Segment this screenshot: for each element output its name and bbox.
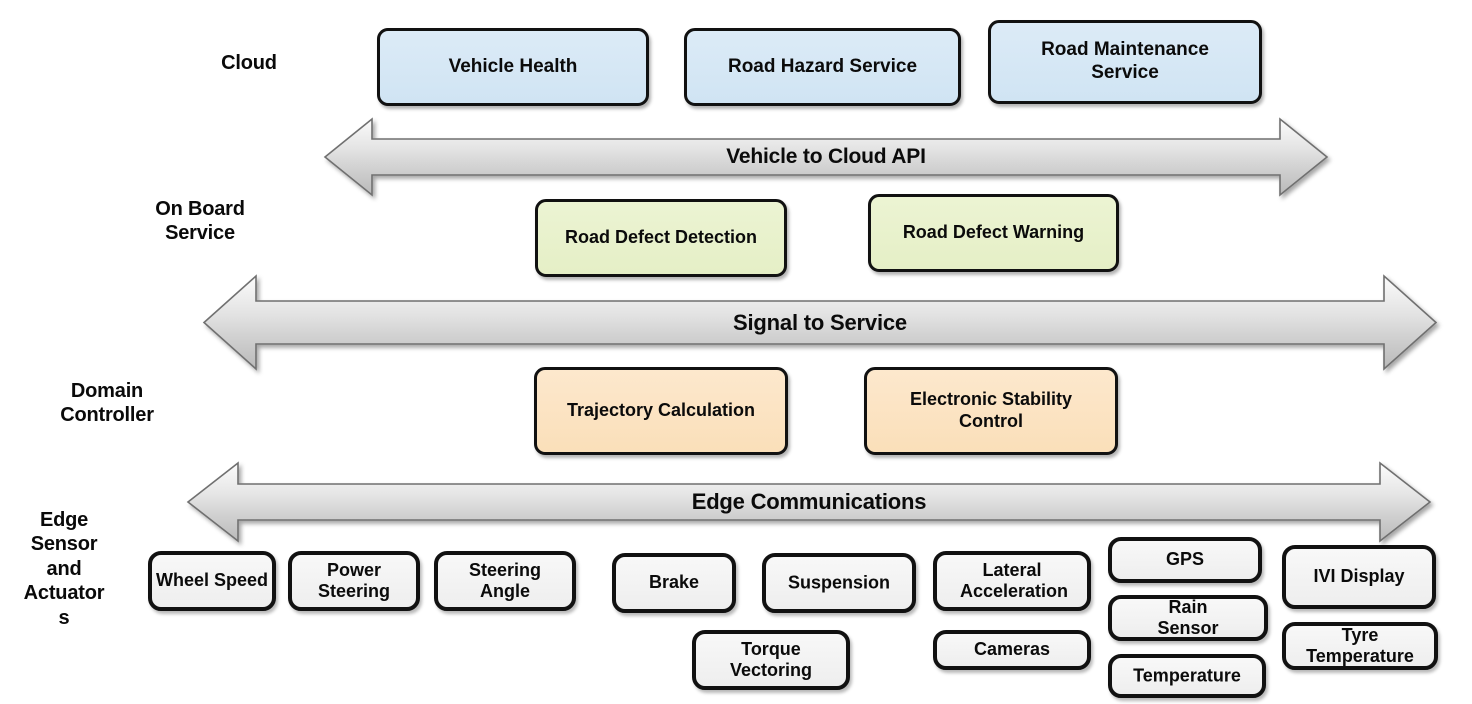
sensor-wheel-speed[interactable]: Wheel Speed <box>148 551 276 611</box>
layer-label-edge-line5: s <box>59 607 70 629</box>
sensor-temperature-label: Temperature <box>1113 665 1261 686</box>
layer-label-cloud: Cloud <box>168 52 330 76</box>
layer-label-edge-line4: Actuator <box>24 582 105 604</box>
domain-function-electronic-stability-control-label: Electronic Stability Control <box>881 389 1101 432</box>
interface-arrow-signal-to-service: Signal to Service <box>204 276 1436 369</box>
sensor-rain-sensor[interactable]: Rain Sensor <box>1108 595 1268 641</box>
architecture-diagram: Cloud On Board Service Domain Controller… <box>0 0 1472 704</box>
sensor-wheel-speed-label: Wheel Speed <box>152 570 272 592</box>
layer-label-domain-line1: Domain <box>71 380 143 402</box>
interface-arrow-vehicle-to-cloud: Vehicle to Cloud API <box>325 119 1327 195</box>
sensor-brake[interactable]: Brake <box>612 553 736 613</box>
sensor-torque-vectoring-label: Torque Vectoring <box>702 639 840 681</box>
sensor-lateral-acceleration-label: Lateral Acceleration <box>960 560 1064 602</box>
sensor-power-steering-label: Power Steering <box>316 560 392 602</box>
interface-arrow-edge-communications: Edge Communications <box>188 463 1430 541</box>
layer-label-domain: Domain Controller <box>22 380 192 427</box>
sensor-tyre-temperature[interactable]: Tyre Temperature <box>1282 622 1438 670</box>
cloud-service-vehicle-health-label: Vehicle Health <box>380 56 646 79</box>
layer-label-edge: Edge Sensor and Actuator s <box>8 508 120 630</box>
cloud-service-vehicle-health[interactable]: Vehicle Health <box>377 28 649 106</box>
sensor-rain-sensor-label: Rain Sensor <box>1151 597 1225 639</box>
layer-label-onboard: On Board Service <box>118 198 282 245</box>
double-arrow-shape <box>325 119 1327 195</box>
sensor-lateral-acceleration[interactable]: Lateral Acceleration <box>933 551 1091 611</box>
domain-function-trajectory-calculation-label: Trajectory Calculation <box>561 400 761 422</box>
onboard-service-road-defect-warning[interactable]: Road Defect Warning <box>868 194 1119 272</box>
sensor-steering-angle-label: Steering Angle <box>463 560 547 602</box>
sensor-suspension[interactable]: Suspension <box>762 553 916 613</box>
sensor-torque-vectoring[interactable]: Torque Vectoring <box>692 630 850 690</box>
sensor-ivi-display-label: IVI Display <box>1286 566 1432 587</box>
domain-function-electronic-stability-control[interactable]: Electronic Stability Control <box>864 367 1118 455</box>
cloud-service-road-hazard-label: Road Hazard Service <box>687 56 958 79</box>
double-arrow-shape <box>188 463 1430 541</box>
cloud-service-road-maintenance[interactable]: Road Maintenance Service <box>988 20 1262 104</box>
sensor-steering-angle[interactable]: Steering Angle <box>434 551 576 611</box>
layer-label-domain-line2: Controller <box>60 404 154 426</box>
onboard-service-road-defect-detection-label: Road Defect Detection <box>560 227 762 249</box>
domain-function-trajectory-calculation[interactable]: Trajectory Calculation <box>534 367 788 455</box>
layer-label-onboard-line1: On Board <box>155 198 245 220</box>
layer-label-edge-line3: and <box>47 558 82 580</box>
sensor-temperature[interactable]: Temperature <box>1108 654 1266 698</box>
layer-label-edge-line1: Edge <box>40 509 88 531</box>
double-arrow-shape <box>204 276 1436 369</box>
onboard-service-road-defect-detection[interactable]: Road Defect Detection <box>535 199 787 277</box>
layer-label-edge-line2: Sensor <box>31 533 98 555</box>
sensor-ivi-display[interactable]: IVI Display <box>1282 545 1436 609</box>
cloud-service-road-maintenance-label: Road Maintenance Service <box>1009 39 1241 85</box>
sensor-cameras-label: Cameras <box>937 639 1087 661</box>
layer-label-cloud-text: Cloud <box>221 52 277 74</box>
onboard-service-road-defect-warning-label: Road Defect Warning <box>895 222 1092 244</box>
sensor-gps[interactable]: GPS <box>1108 537 1262 583</box>
sensor-cameras[interactable]: Cameras <box>933 630 1091 670</box>
layer-label-onboard-line2: Service <box>165 222 235 244</box>
sensor-brake-label: Brake <box>616 572 732 594</box>
cloud-service-road-hazard[interactable]: Road Hazard Service <box>684 28 961 106</box>
sensor-power-steering[interactable]: Power Steering <box>288 551 420 611</box>
sensor-gps-label: GPS <box>1112 549 1258 571</box>
sensor-tyre-temperature-label: Tyre Temperature <box>1288 625 1432 667</box>
sensor-suspension-label: Suspension <box>785 572 893 593</box>
